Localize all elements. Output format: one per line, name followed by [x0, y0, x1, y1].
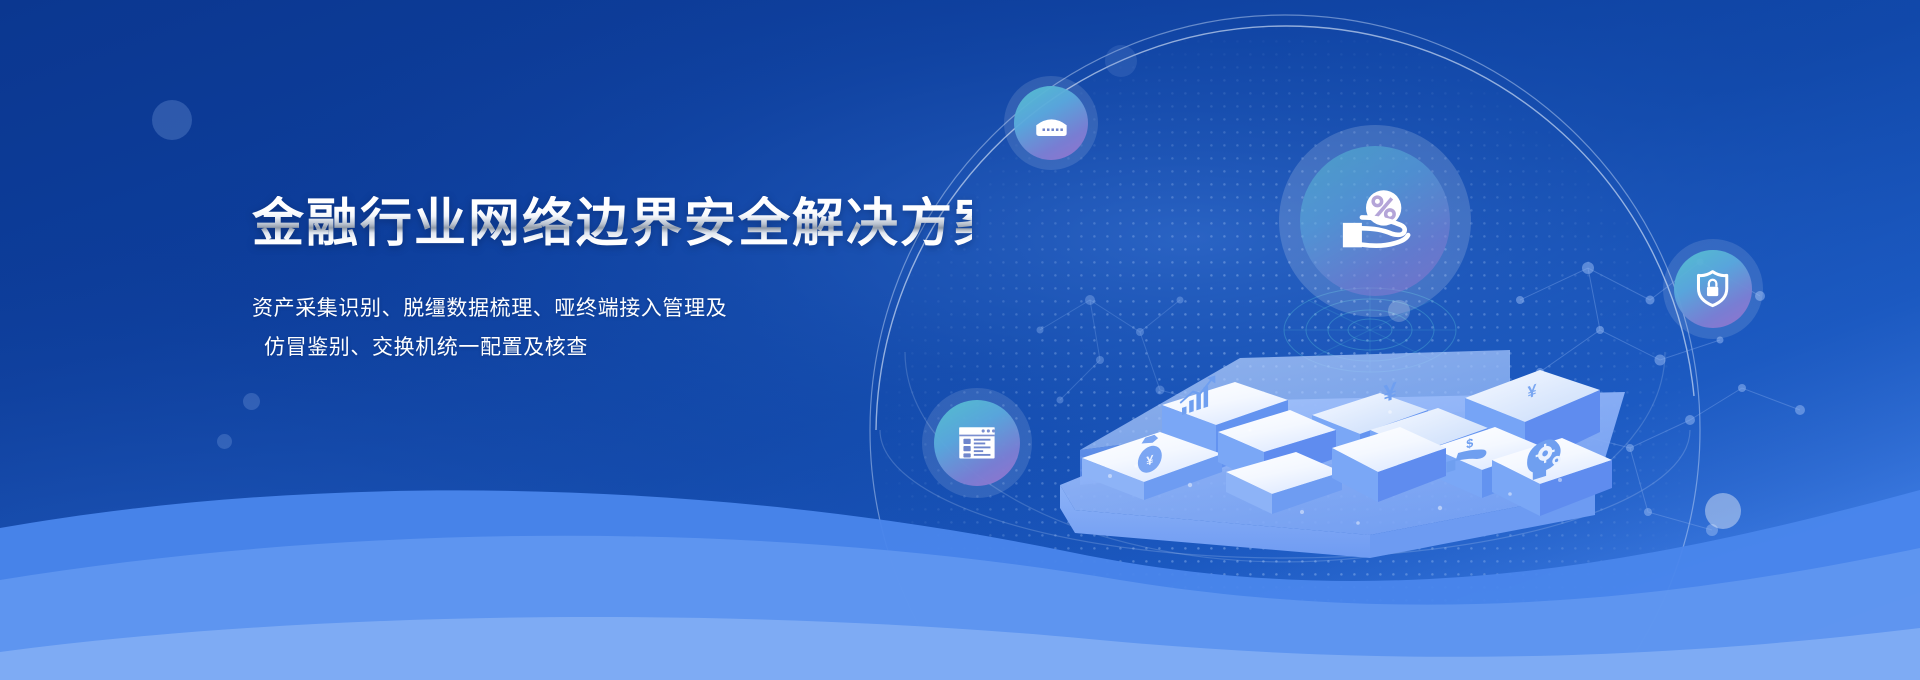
router-device-badge[interactable]	[1014, 86, 1088, 160]
svg-text:¥: ¥	[1383, 378, 1397, 409]
shield-lock-badge[interactable]	[1674, 250, 1752, 328]
shield-lock-icon	[1690, 266, 1735, 311]
router-icon	[1030, 102, 1073, 145]
page-subtitle: 资产采集识别、脱缰数据梳理、哑终端接入管理及 仿冒鉴别、交换机统一配置及核查	[252, 290, 972, 368]
document-list-icon	[952, 418, 1002, 468]
finance-network-security-banner: ¥ $	[0, 0, 1920, 680]
subtitle-line-2: 仿冒鉴别、交换机统一配置及核查	[252, 329, 972, 368]
hand-percent-icon	[1332, 178, 1419, 265]
svg-text:¥: ¥	[1146, 452, 1154, 469]
yuan-symbol-icon: ¥	[1528, 379, 1537, 402]
page-title: 金融行业网络边界安全解决方案	[252, 196, 972, 252]
document-list-badge[interactable]	[934, 400, 1020, 486]
percent-hand-badge[interactable]	[1300, 146, 1450, 296]
subtitle-line-1: 资产采集识别、脱缰数据梳理、哑终端接入管理及	[252, 290, 972, 329]
isometric-finance-platform: ¥ $	[1040, 280, 1660, 560]
svg-text:¥: ¥	[1528, 379, 1537, 402]
svg-text:$: $	[1466, 435, 1473, 452]
banner-text-block: 金融行业网络边界安全解决方案 资产采集识别、脱缰数据梳理、哑终端接入管理及 仿冒…	[252, 196, 972, 368]
